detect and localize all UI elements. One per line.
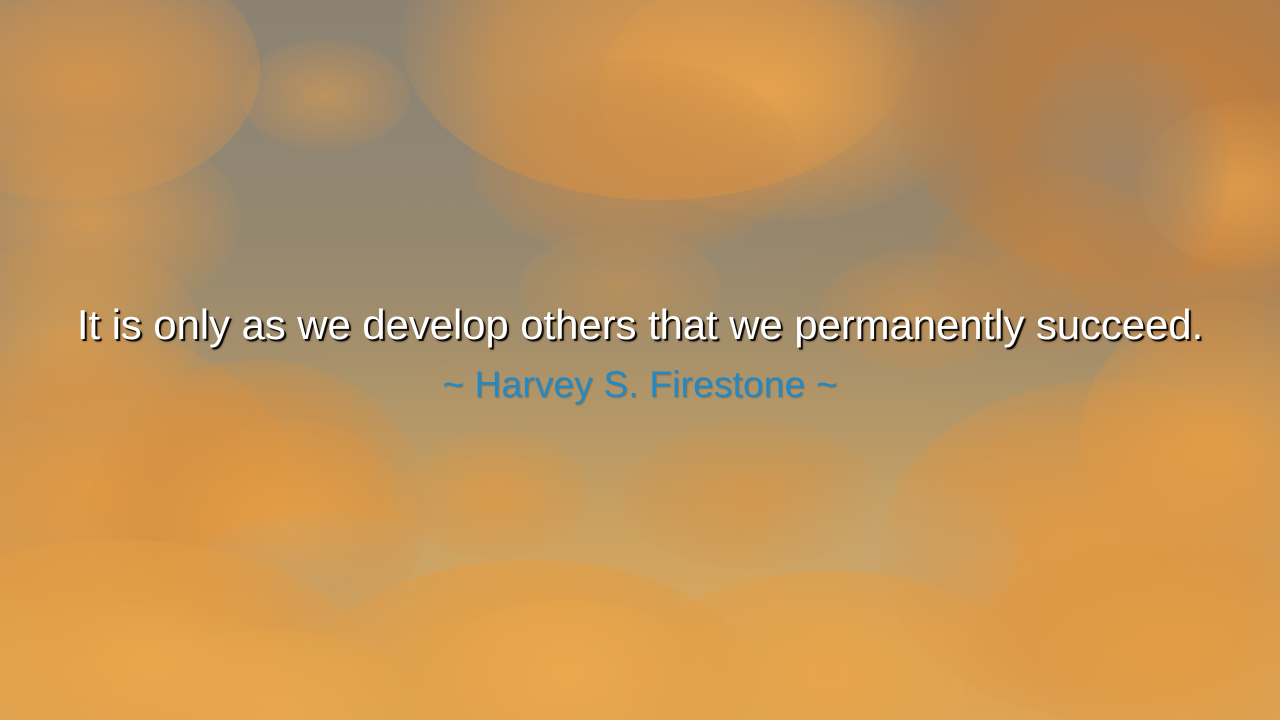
quote-block: It is only as we develop others that we … <box>0 300 1280 407</box>
quote-wallpaper: It is only as we develop others that we … <box>0 0 1280 720</box>
quote-text: It is only as we develop others that we … <box>0 300 1280 350</box>
quote-attribution: ~ Harvey S. Firestone ~ <box>0 363 1280 407</box>
